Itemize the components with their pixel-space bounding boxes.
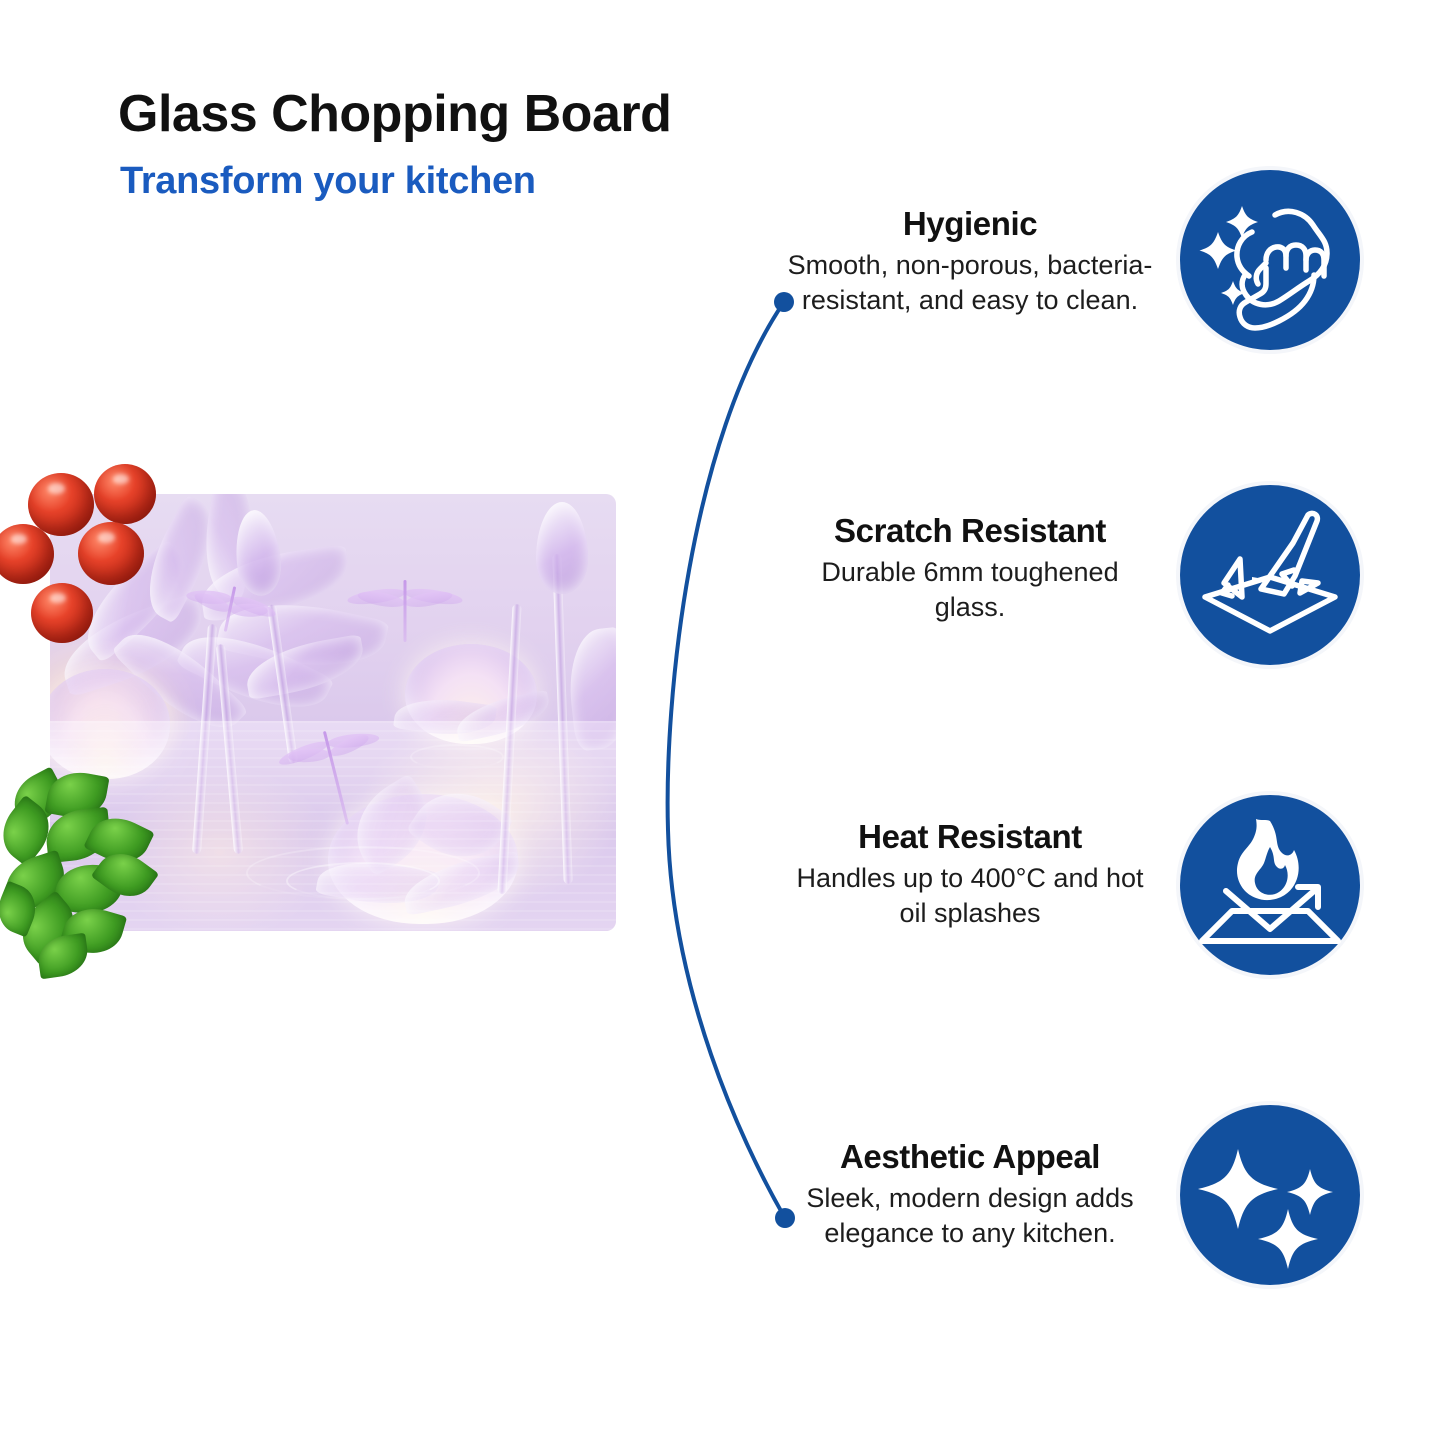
- feature-title: Scratch Resistant: [784, 512, 1156, 550]
- feature-icon-heat-resistant: [1180, 795, 1360, 975]
- cleaning-hand-sparkle-icon: [1180, 170, 1360, 350]
- page-subtitle: Transform your kitchen: [120, 160, 536, 203]
- feature-description: Sleek, modern design adds elegance to an…: [784, 1181, 1156, 1251]
- feature-hygienic: Hygienic Smooth, non-porous, bacteria-re…: [784, 205, 1156, 318]
- cherry-tomato: [31, 583, 93, 643]
- infographic-canvas: Glass Chopping Board Transform your kitc…: [0, 0, 1445, 1445]
- feature-title: Heat Resistant: [784, 818, 1156, 856]
- feature-title: Aesthetic Appeal: [784, 1138, 1156, 1176]
- flame-deflect-surface-icon: [1180, 795, 1360, 975]
- feature-description: Durable 6mm toughened glass.: [784, 555, 1156, 625]
- cherry-tomato: [94, 464, 156, 524]
- feature-title: Hygienic: [784, 205, 1156, 243]
- feature-description: Smooth, non-porous, bacteria-resistant, …: [784, 248, 1156, 318]
- knife-impact-surface-icon: [1180, 485, 1360, 665]
- feature-aesthetic-appeal: Aesthetic Appeal Sleek, modern design ad…: [784, 1138, 1156, 1251]
- feature-icon-scratch-resistant: [1180, 485, 1360, 665]
- feature-icon-aesthetic-appeal: [1180, 1105, 1360, 1285]
- sparkles-icon: [1180, 1105, 1360, 1285]
- dragonfly-icon: [403, 580, 406, 642]
- page-title: Glass Chopping Board: [118, 84, 671, 144]
- feature-scratch-resistant: Scratch Resistant Durable 6mm toughened …: [784, 512, 1156, 625]
- feature-description: Handles up to 400°C and hot oil splashes: [784, 861, 1156, 931]
- feature-heat-resistant: Heat Resistant Handles up to 400°C and h…: [784, 818, 1156, 931]
- cherry-tomato: [78, 522, 144, 585]
- cherry-tomato: [28, 473, 94, 536]
- feature-icon-hygienic: [1180, 170, 1360, 350]
- cherry-tomato: [0, 524, 54, 584]
- parsley-bunch: [0, 772, 174, 972]
